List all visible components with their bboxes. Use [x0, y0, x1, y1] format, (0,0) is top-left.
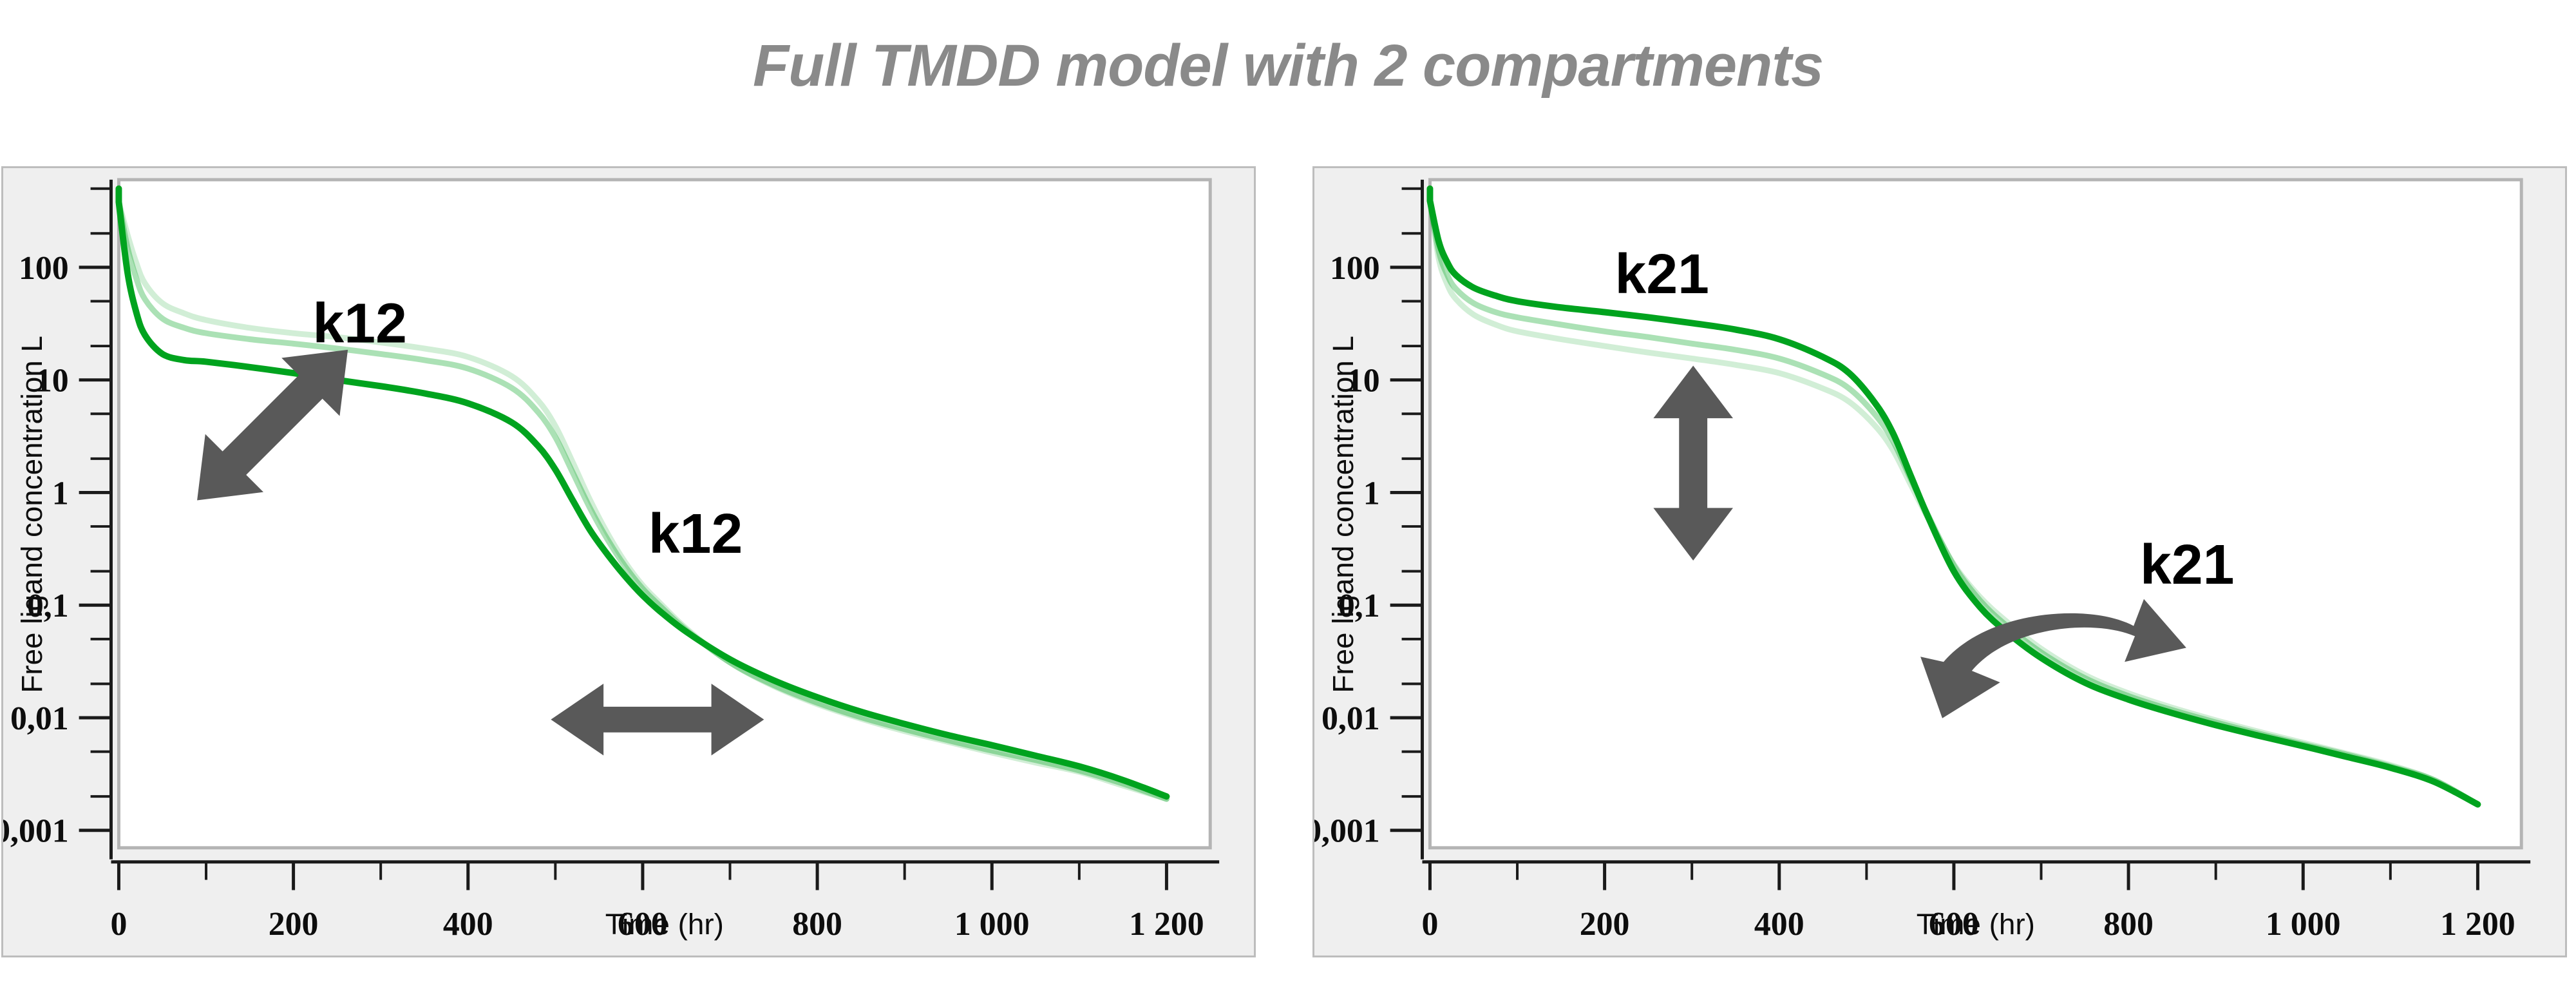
annotation-label-k12-1: k12: [313, 292, 407, 355]
annotation-label-k21-1: k21: [1615, 242, 1709, 305]
y-tick-label: 0,01: [10, 700, 69, 737]
y-tick-label: 0,001: [1314, 813, 1380, 850]
right-chart-svg: 1001010,10,010,00102004006008001 0001 20…: [1314, 168, 2565, 955]
y-tick-label: 100: [1330, 250, 1380, 287]
y-axis-title-right: Free ligand concentration L: [1327, 336, 1359, 693]
y-axis-title-left: Free ligand concentration L: [15, 336, 48, 693]
annotation-label-k21-2: k21: [2140, 533, 2234, 596]
x-tick-label: 400: [1754, 906, 1804, 943]
annotation-label-k12-2: k12: [649, 502, 743, 565]
x-axis-title-left: Time (hr): [605, 908, 724, 941]
x-tick-label: 800: [2103, 906, 2154, 943]
y-tick-label: 1: [1363, 475, 1380, 512]
y-tick-label: 0,01: [1321, 700, 1380, 737]
x-tick-label: 1 000: [2266, 906, 2341, 943]
x-tick-label: 0: [1421, 906, 1438, 943]
x-tick-label: 1 200: [2440, 906, 2515, 943]
x-axis-title-right: Time (hr): [1917, 908, 2035, 941]
page-title: Full TMDD model with 2 compartments: [0, 32, 2576, 100]
chart-panel-right: 1001010,10,010,00102004006008001 0001 20…: [1312, 166, 2567, 957]
x-tick-label: 1 000: [954, 906, 1030, 943]
y-tick-label: 100: [19, 250, 69, 287]
x-tick-label: 400: [443, 906, 493, 943]
y-tick-label: 1: [52, 475, 69, 512]
slide-canvas: Full TMDD model with 2 compartments 1001…: [0, 0, 2576, 989]
left-chart-svg: 1001010,10,010,00102004006008001 0001 20…: [3, 168, 1254, 955]
x-tick-label: 0: [110, 906, 127, 943]
y-tick-label: 0,001: [3, 813, 69, 850]
plot-area-right: [1430, 180, 2521, 848]
x-tick-label: 1 200: [1129, 906, 1204, 943]
x-tick-label: 200: [269, 906, 319, 943]
x-tick-label: 800: [792, 906, 842, 943]
x-tick-label: 200: [1580, 906, 1630, 943]
chart-panel-left: 1001010,10,010,00102004006008001 0001 20…: [1, 166, 1256, 957]
